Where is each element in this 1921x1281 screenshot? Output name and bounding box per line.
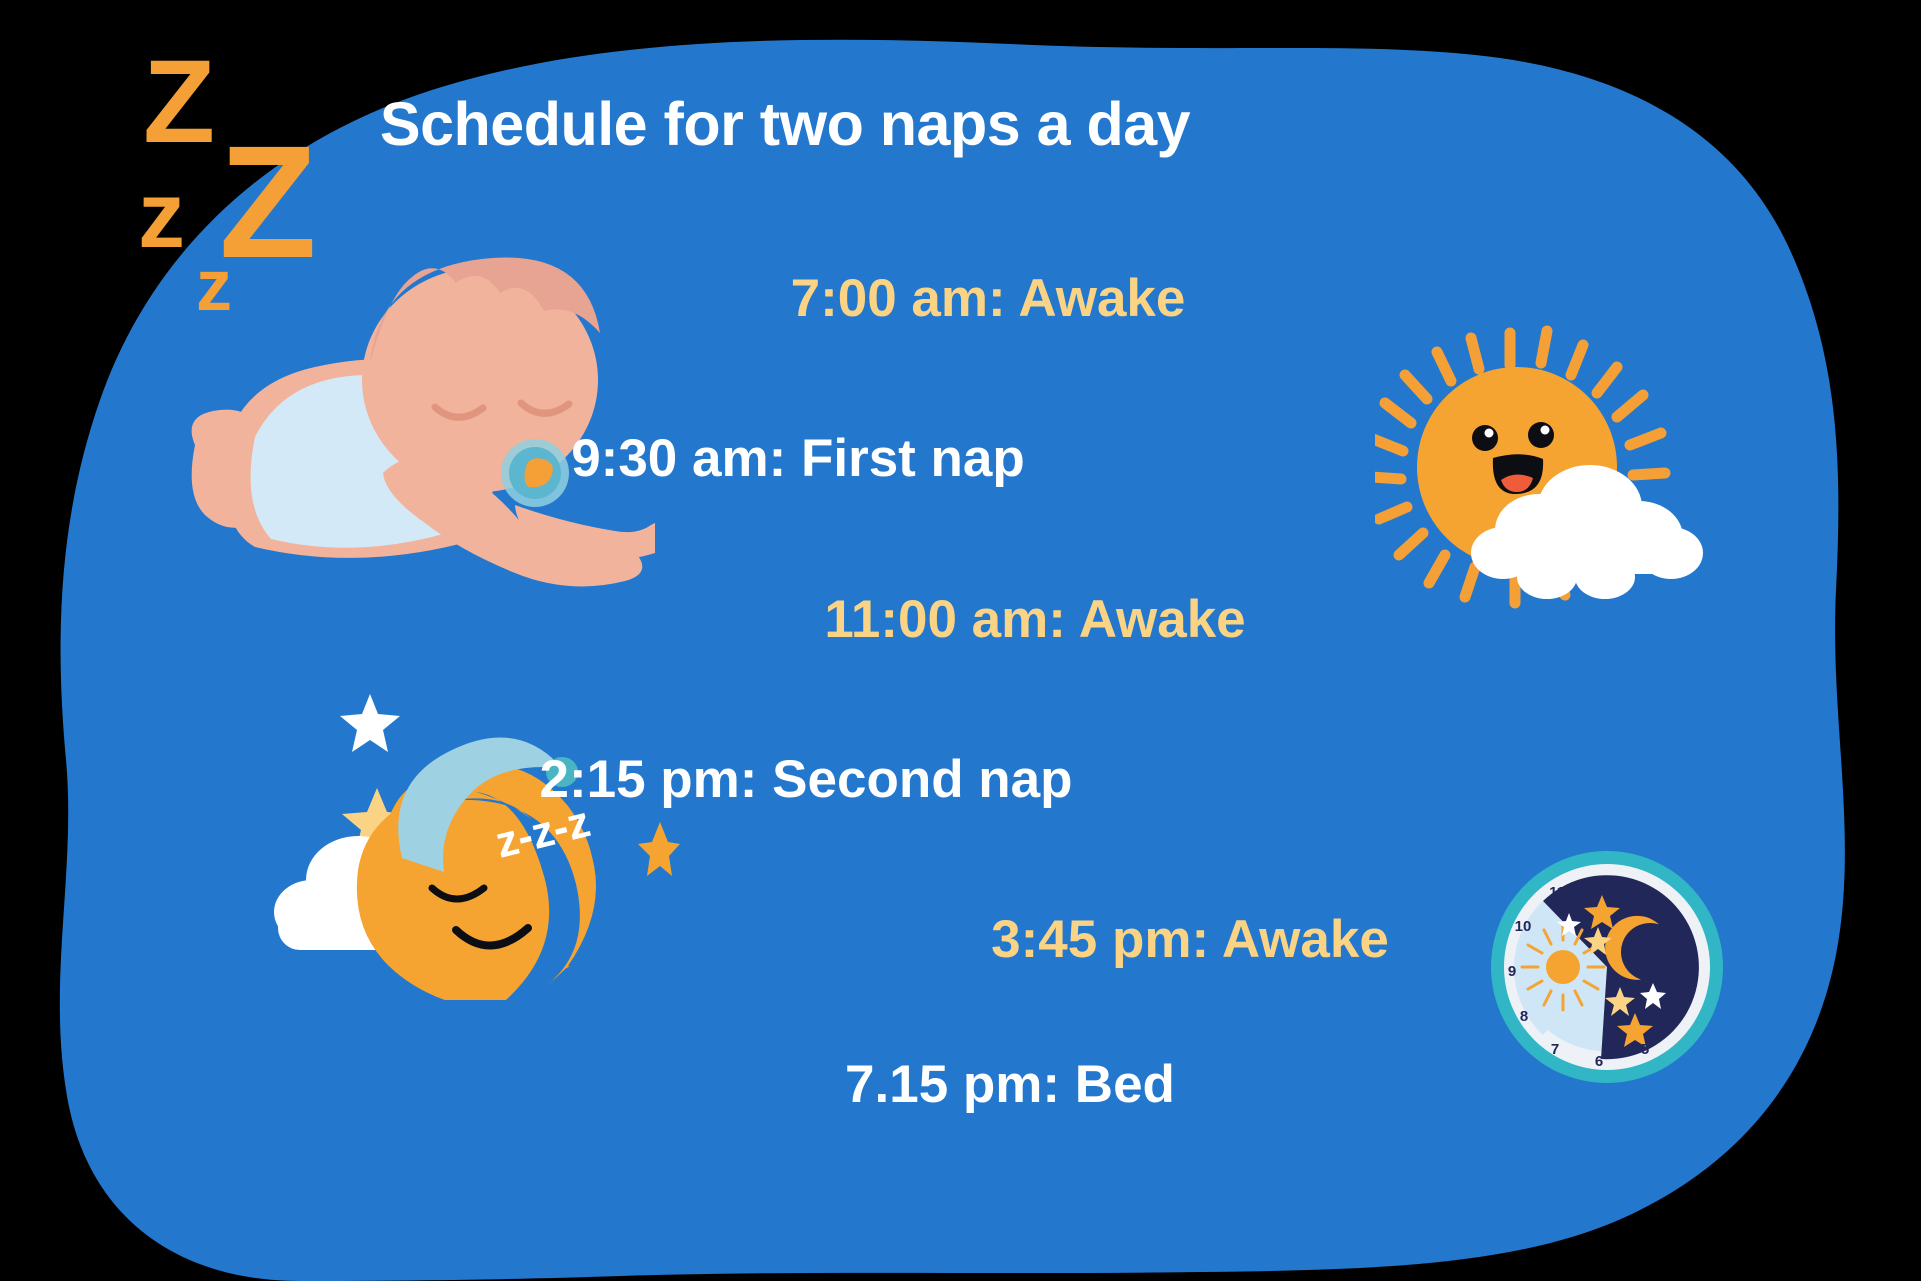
clock-numeral-9: 9 <box>1508 963 1516 980</box>
schedule-item-11-00-am-awake: 11:00 am: Awake <box>824 593 1245 646</box>
clock-numeral-6: 6 <box>1595 1053 1603 1070</box>
sleeping-baby-icon <box>185 255 655 595</box>
clock-numeral-3: 3 <box>1684 963 1692 980</box>
sleeping-crescent-moon-icon: z-z-z <box>260 680 680 1000</box>
page-title: Schedule for two naps a day <box>0 92 1570 156</box>
smiling-sun-with-cloud-icon <box>1375 325 1715 625</box>
sleep-z-icon-3: z <box>138 168 185 262</box>
clock-numeral-5: 5 <box>1641 1041 1649 1058</box>
clock-numeral-10: 10 <box>1515 918 1532 935</box>
clock-numeral-11: 11 <box>1549 884 1565 901</box>
schedule-item-2-15-pm-second-nap: 2:15 pm: Second nap <box>539 753 1072 806</box>
clock-numeral-12: 12 <box>1590 874 1607 891</box>
schedule-item-3-45-pm-awake: 3:45 pm: Awake <box>991 913 1389 966</box>
day-night-clock-icon: 12 1 2 3 4 5 6 7 8 9 10 11 <box>1485 845 1730 1090</box>
clock-numeral-7: 7 <box>1551 1041 1559 1058</box>
schedule-item-7-15-pm-bed: 7.15 pm: Bed <box>845 1058 1175 1111</box>
clock-numeral-4: 4 <box>1672 1008 1681 1025</box>
infographic-canvas: Z Z z z <box>0 0 1921 1281</box>
clock-numeral-1: 1 <box>1638 885 1646 902</box>
schedule-item-7-00-am-awake: 7:00 am: Awake <box>791 272 1186 325</box>
clock-numeral-2: 2 <box>1671 919 1679 936</box>
schedule-item-9-30-am-first-nap: 9:30 am: First nap <box>571 432 1025 485</box>
clock-numeral-8: 8 <box>1520 1008 1528 1025</box>
